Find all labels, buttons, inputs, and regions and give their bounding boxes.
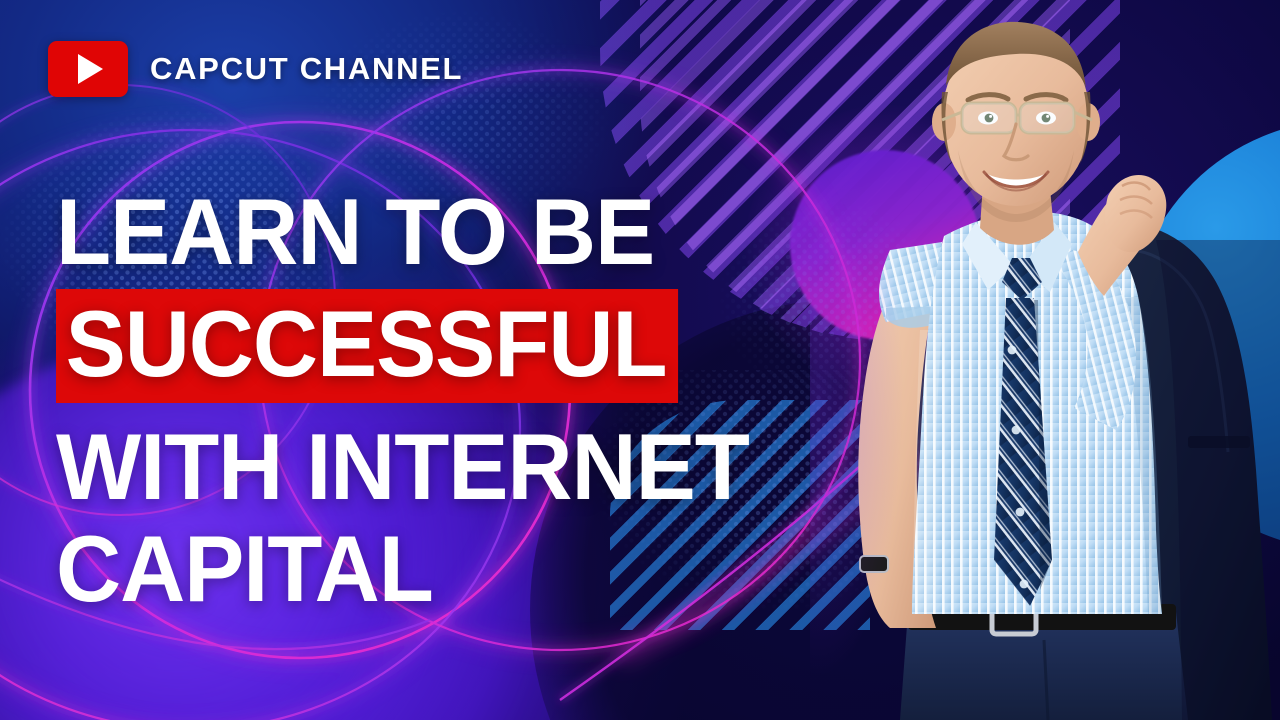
headline-highlight: SUCCESSFUL	[56, 289, 678, 403]
headline-block: LEARN TO BE SUCCESSFUL WITH INTERNET CAP…	[56, 185, 778, 615]
channel-badge[interactable]: CAPCUT CHANNEL	[48, 41, 463, 97]
headline-line-2-wrapper: SUCCESSFUL	[56, 289, 749, 403]
channel-name: CAPCUT CHANNEL	[150, 51, 463, 87]
youtube-thumbnail: CAPCUT CHANNEL LEARN TO BE SUCCESSFUL WI…	[0, 0, 1280, 720]
subject-photo	[816, 0, 1280, 720]
headline-line-3: WITH INTERNET	[56, 420, 749, 513]
headline-line-4: CAPITAL	[56, 522, 749, 615]
youtube-play-icon[interactable]	[48, 41, 128, 97]
play-triangle-icon	[78, 54, 103, 84]
headline-line-1: LEARN TO BE	[56, 185, 749, 278]
